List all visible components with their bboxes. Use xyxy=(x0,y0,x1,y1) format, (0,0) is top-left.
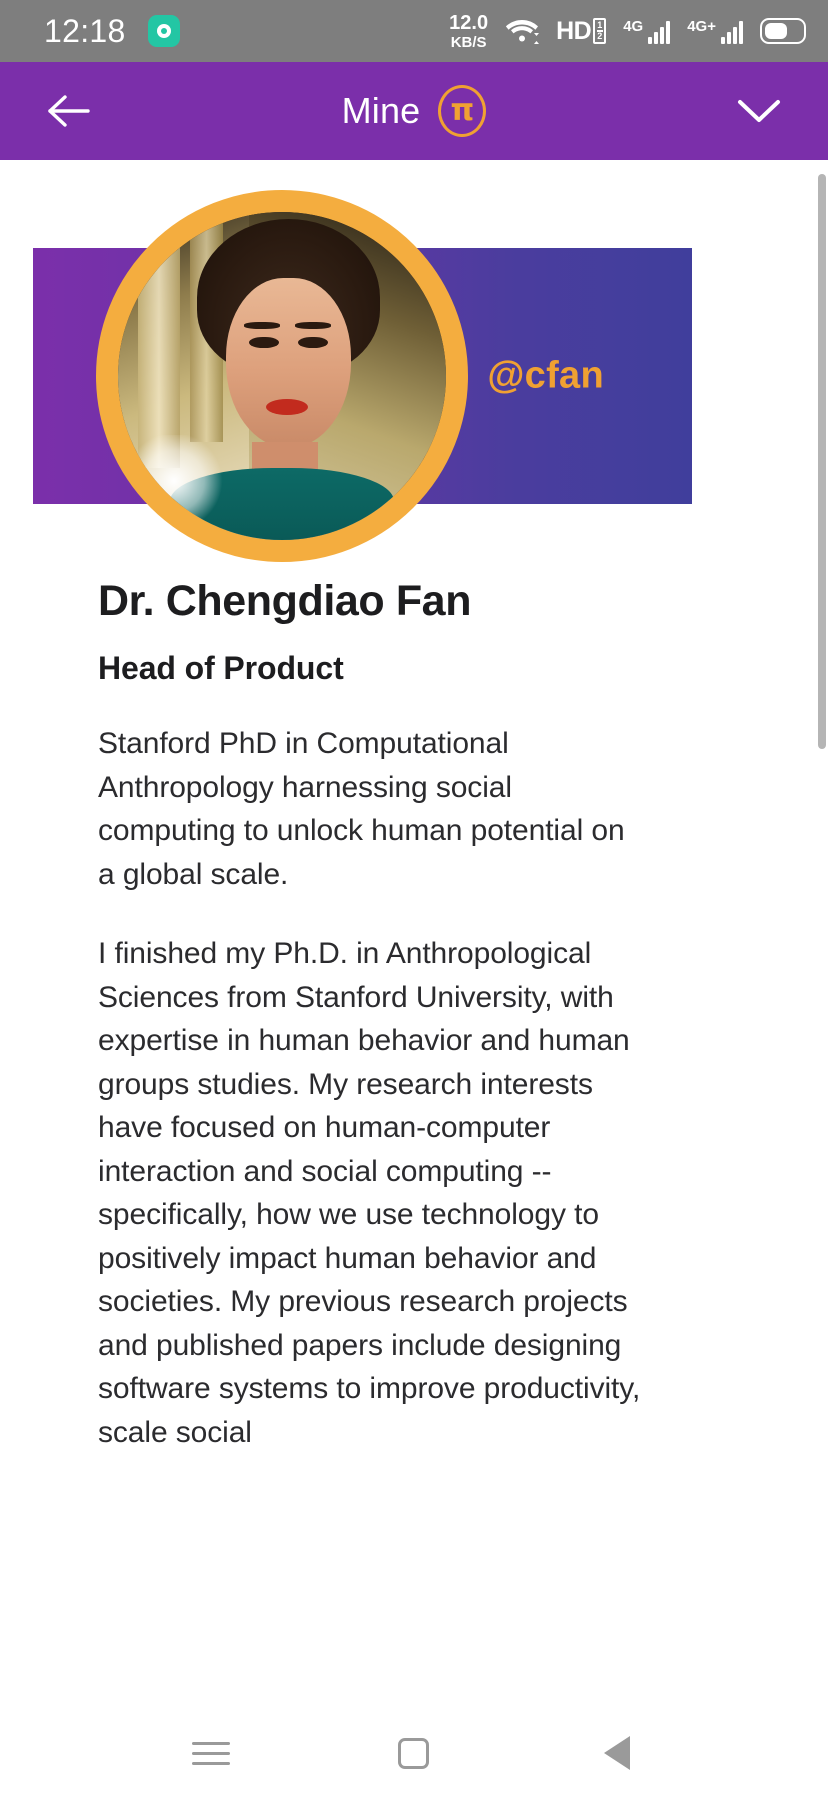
signal-sim2-label: 4G+ xyxy=(687,19,716,34)
status-bar: 12:18 12.0 KB/S HD 1 xyxy=(0,0,828,62)
network-speed-indicator: 12.0 KB/S xyxy=(449,13,488,50)
profile-handle: @cfan xyxy=(487,355,604,398)
profile-role: Head of Product xyxy=(98,651,646,686)
status-bar-icons: 12.0 KB/S HD 1 2 xyxy=(449,13,806,50)
signal-sim2-icon: 4G+ xyxy=(687,19,743,44)
profile-scroll-area[interactable]: @cfan Dr. Chengdiao Fan He xyxy=(0,160,828,1794)
home-square-icon[interactable] xyxy=(379,1723,449,1783)
back-triangle-icon[interactable] xyxy=(582,1723,652,1783)
profile-bio-paragraph-1: Stanford PhD in Computational Anthropolo… xyxy=(98,722,646,896)
menu-icon[interactable] xyxy=(176,1723,246,1783)
page-title: Mine xyxy=(342,90,421,132)
back-button[interactable] xyxy=(38,80,100,142)
profile-avatar[interactable] xyxy=(96,190,468,562)
hd-volte-icon: HD 1 2 xyxy=(556,18,606,44)
chevron-down-icon[interactable] xyxy=(728,80,790,142)
profile-bio-paragraph-2: I finished my Ph.D. in Anthropological S… xyxy=(98,932,646,1454)
network-speed-unit: KB/S xyxy=(451,35,487,50)
avatar-photo xyxy=(118,212,446,540)
hd-sim-indicator: 1 2 xyxy=(593,18,606,44)
battery-icon xyxy=(760,18,806,44)
wifi-icon xyxy=(505,17,539,45)
pi-network-logo: π xyxy=(438,85,486,137)
app-bar: Mine π xyxy=(0,62,828,160)
phone-screen: 12:18 12.0 KB/S HD 1 xyxy=(0,0,828,1794)
profile-name: Dr. Chengdiao Fan xyxy=(98,578,646,625)
vertical-scrollbar[interactable] xyxy=(818,174,826,749)
profile-text-column: Dr. Chengdiao Fan Head of Product Stanfo… xyxy=(98,578,646,1454)
signal-sim1-icon: 4G xyxy=(623,19,670,44)
signal-sim1-label: 4G xyxy=(623,19,643,34)
android-navigation-bar xyxy=(0,1712,828,1794)
hd-label: HD xyxy=(556,20,591,44)
app-bar-center: Mine π xyxy=(342,85,487,137)
status-bar-clock: 12:18 xyxy=(44,15,126,47)
network-speed-value: 12.0 xyxy=(449,13,488,33)
camera-app-icon xyxy=(148,15,180,47)
